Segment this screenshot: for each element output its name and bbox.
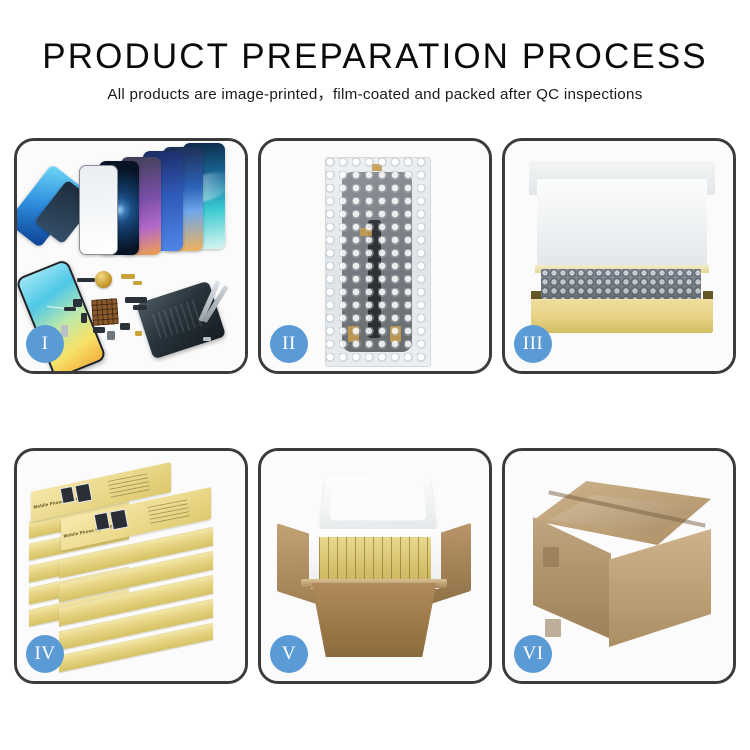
screen-glass-front [79,165,118,255]
part-flex-3 [133,305,147,310]
part-connector-1 [121,274,135,279]
step-badge-3: III [514,325,552,363]
part-connector-2 [133,281,142,285]
box-label-image-3 [94,512,111,531]
part-chip-2 [81,313,87,323]
step-panel-5[interactable]: V [258,448,492,684]
step-badge-4: IV [26,635,64,673]
step-panel-6[interactable]: VI [502,448,736,684]
step-badge-2: II [270,325,308,363]
part-speaker [107,331,115,340]
process-grid: I II [14,138,736,684]
part-screw-set [135,331,142,336]
bubble-bag [325,157,431,367]
foam-lid [319,477,436,531]
part-flex-1 [64,307,76,311]
part-chip-3 [93,327,105,333]
step-badge-5: V [270,635,308,673]
box-label-image-4 [109,509,128,531]
box-label-image-1 [60,486,76,504]
box-label-image-2 [74,483,92,504]
part-camera [120,323,130,330]
part-chip-1 [73,299,82,307]
step-panel-3[interactable]: III [502,138,736,374]
part-bracket [203,337,211,341]
step-badge-6: VI [514,635,552,673]
part-strip-1 [77,278,95,282]
box-lid-inner [537,179,707,273]
carton-tab-upper [543,547,559,567]
infographic-page: PRODUCT PREPARATION PROCESS All products… [0,0,750,750]
page-title: PRODUCT PREPARATION PROCESS [0,36,750,78]
page-subtitle: All products are image-printed，film-coat… [0,85,750,105]
box-front-yellow [531,299,713,333]
bubble-wrap-fill [541,269,701,303]
step-panel-1[interactable]: I [14,138,248,374]
carton-body [303,583,445,657]
carton-tab-lower [545,619,561,637]
step-panel-2[interactable]: II [258,138,492,374]
header: PRODUCT PREPARATION PROCESS All products… [0,36,750,105]
step-badge-1: I [26,325,64,363]
carton-right-face [609,529,711,647]
packed-yellow-boxes [319,537,431,581]
chip-array-part [91,298,119,326]
part-flex-2 [125,297,147,303]
gold-coil-part [95,271,112,288]
step-panel-4[interactable]: Mobile Phone Spare Parts Mobile Phone Sp… [14,448,248,684]
